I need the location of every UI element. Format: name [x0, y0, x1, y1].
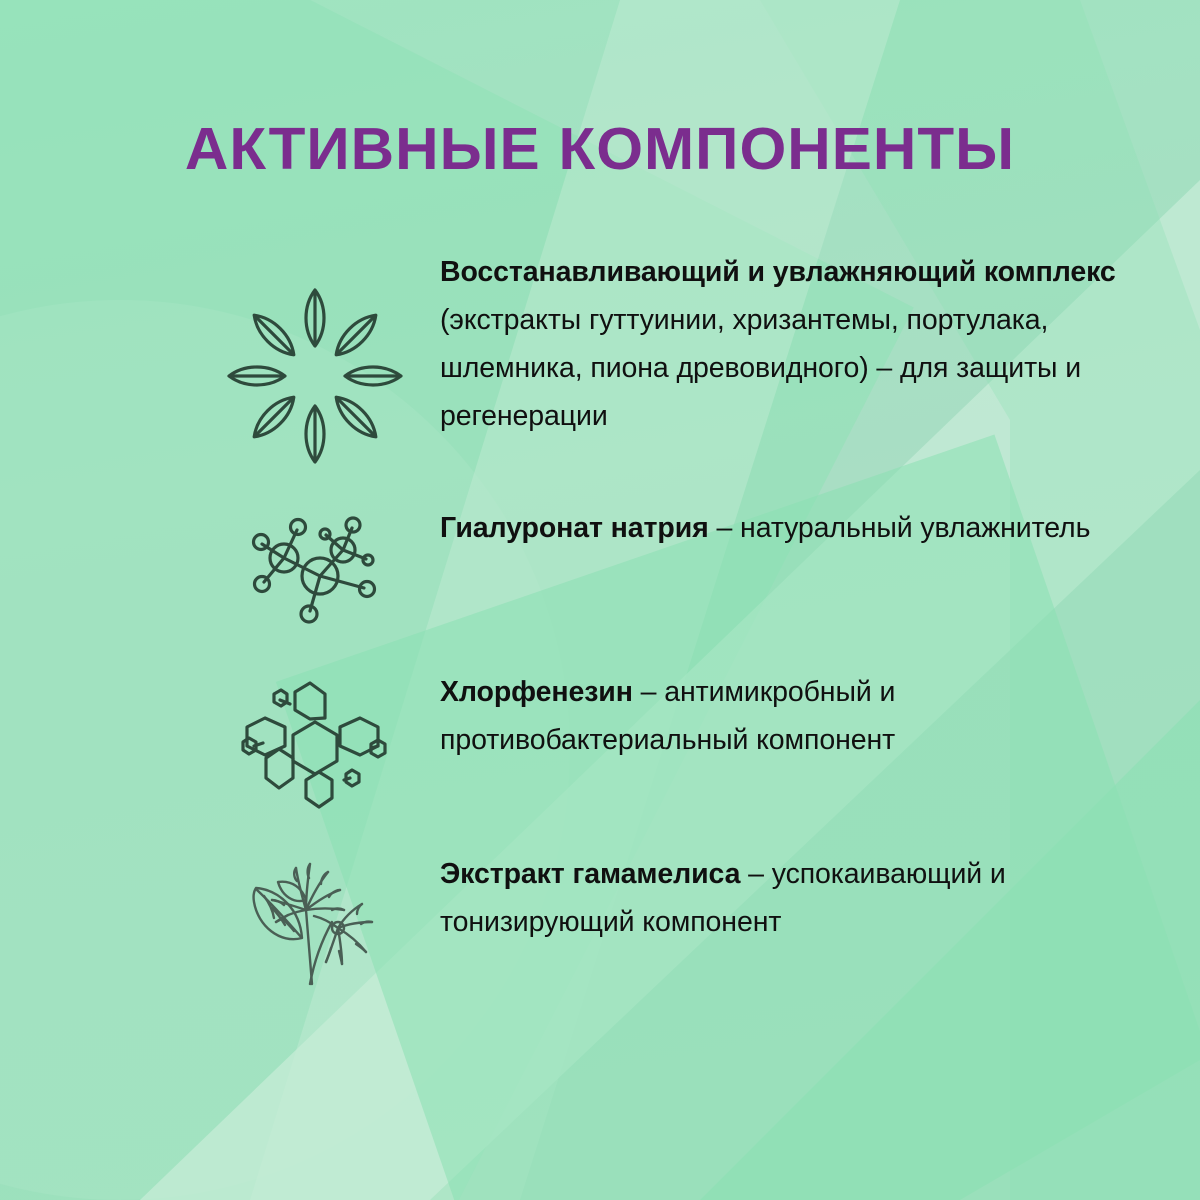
witch-hazel-plant-icon — [190, 850, 440, 992]
list-item-text: Восстанавливающий и увлажняющий комплекс… — [440, 248, 1120, 440]
page-title: АКТИВНЫЕ КОМПОНЕНТЫ — [0, 120, 1200, 179]
list-item: Гиалуронат натрия – натуральный увлажнит… — [190, 504, 1120, 630]
list-item-text: Хлорфенезин – антимикробный и противобак… — [440, 668, 1120, 764]
ingredients-list: Восстанавливающий и увлажняющий комплекс… — [190, 248, 1120, 992]
list-item-lead: Гиалуронат натрия — [440, 512, 709, 544]
slide-root: АКТИВНЫЕ КОМПОНЕНТЫ — [0, 0, 1200, 1200]
flower-petals-icon — [190, 248, 440, 466]
list-item-text: Гиалуронат натрия – натуральный увлажнит… — [440, 504, 1120, 552]
molecule-icon — [190, 504, 440, 630]
list-item-lead: Хлорфенезин — [440, 676, 633, 708]
list-item: Экстракт гамамелиса – успокаивающий и то… — [190, 850, 1120, 992]
hexagon-chemical-structure-icon — [190, 668, 440, 814]
list-item-text: Экстракт гамамелиса – успокаивающий и то… — [440, 850, 1120, 946]
list-item-rest: – натуральный увлажнитель — [709, 512, 1091, 544]
list-item: Восстанавливающий и увлажняющий комплекс… — [190, 248, 1120, 466]
list-item-lead: Восстанавливающий и увлажняющий комплекс — [440, 256, 1116, 288]
list-item-lead: Экстракт гамамелиса — [440, 858, 740, 890]
slide-content: АКТИВНЫЕ КОМПОНЕНТЫ — [0, 0, 1200, 1200]
list-item: Хлорфенезин – антимикробный и противобак… — [190, 668, 1120, 814]
list-item-rest: (экстракты гуттуинии, хризантемы, портул… — [440, 304, 1081, 432]
